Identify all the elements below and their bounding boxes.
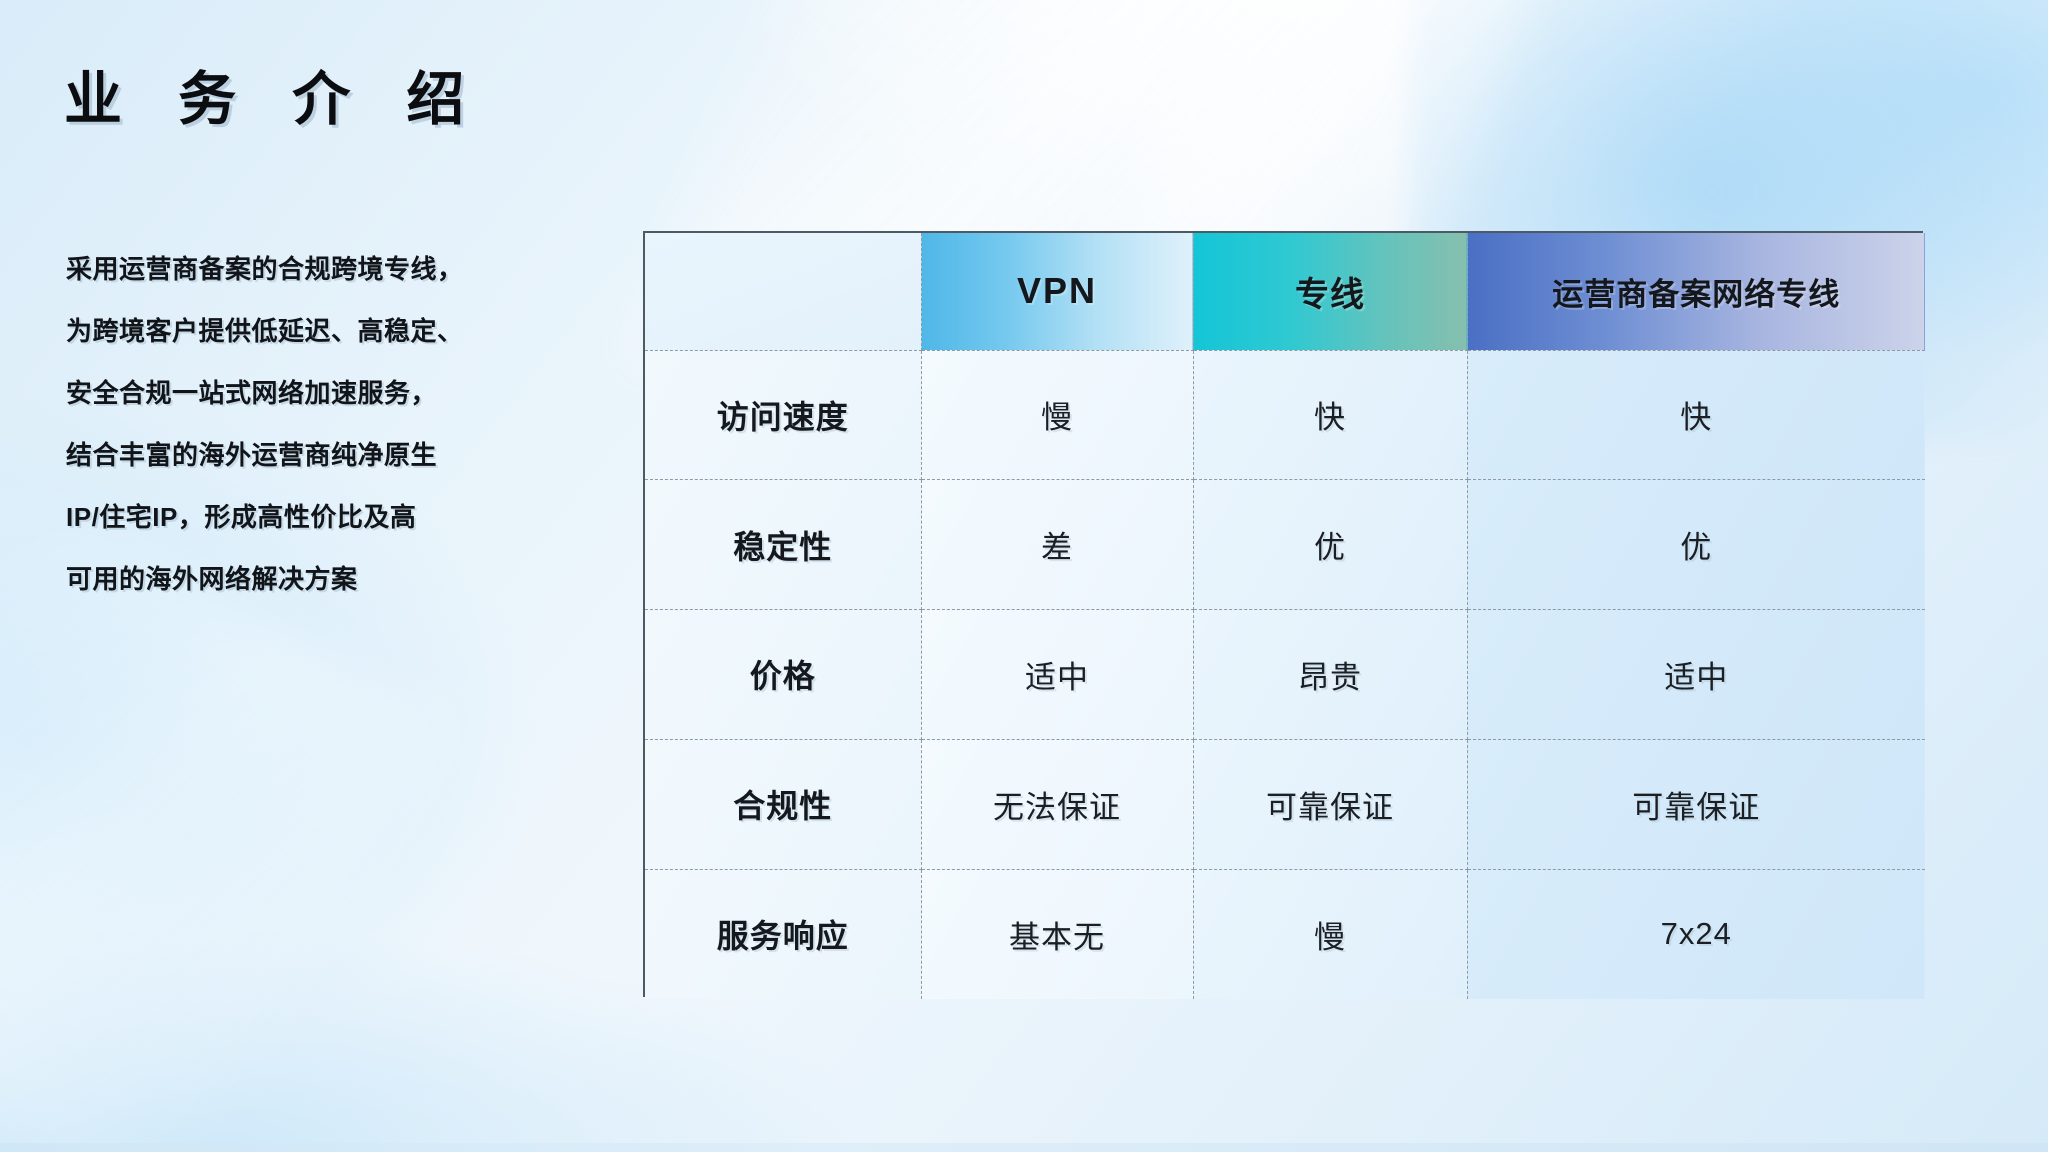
cell-value: 慢 [921,350,1193,480]
cell-text: 差 [1041,530,1073,565]
cell-text: 适中 [1025,660,1089,695]
cell-value: 基本无 [921,869,1193,999]
paragraph-line: 安全合规一站式网络加速服务， [66,362,626,424]
table-row: 访问速度 慢 快 快 [645,350,1925,480]
table-header-corner [645,233,921,350]
row-label-service-response: 服务响应 [645,869,921,999]
cell-value: 差 [921,480,1193,610]
cell-text: 可靠保证 [1266,790,1394,825]
cell-text: 7x24 [1661,916,1732,951]
cell-value: 昂贵 [1193,610,1467,740]
table-row: 稳定性 差 优 优 [645,480,1925,610]
comparison-table: VPN 专线 运营商备案网络专线 访问速度 慢 快 快 [643,231,1923,997]
cell-text: 适中 [1664,660,1728,695]
row-label-stability: 稳定性 [645,480,921,610]
paragraph-line: 采用运营商备案的合规跨境专线， [66,238,626,300]
table-header-dedicated-line: 专线 [1193,233,1467,350]
cell-text: 优 [1680,530,1712,565]
paragraph-line: IP/住宅IP，形成高性价比及高 [66,486,626,548]
cell-value: 可靠保证 [1467,739,1925,869]
table-row: 服务响应 基本无 慢 7x24 [645,869,1925,999]
cell-text: 无法保证 [993,790,1121,825]
cell-value: 7x24 [1467,869,1925,999]
cell-value: 适中 [1467,610,1925,740]
table-header-carrier-line-label: 运营商备案网络专线 [1552,277,1840,312]
cell-text: 优 [1314,530,1346,565]
table-header-dedicated-line-label: 专线 [1295,276,1365,314]
table-row: 合规性 无法保证 可靠保证 可靠保证 [645,739,1925,869]
cell-value: 优 [1193,480,1467,610]
cell-text: 昂贵 [1298,660,1362,695]
paragraph-line: 结合丰富的海外运营商纯净原生 [66,424,626,486]
cell-text: 慢 [1314,920,1346,955]
paragraph-line: 为跨境客户提供低延迟、高稳定、 [66,300,626,362]
cell-text: 快 [1314,400,1346,435]
slide-bottom-edge [0,1143,2048,1152]
cell-value: 优 [1467,480,1925,610]
row-label-compliance: 合规性 [645,739,921,869]
table-header-row: VPN 专线 运营商备案网络专线 [645,233,1925,350]
intro-paragraph: 采用运营商备案的合规跨境专线， 为跨境客户提供低延迟、高稳定、 安全合规一站式网… [66,238,626,610]
cell-value: 无法保证 [921,739,1193,869]
cell-value: 适中 [921,610,1193,740]
cell-text: 基本无 [1009,920,1105,955]
slide-canvas: 业 务 介 绍 采用运营商备案的合规跨境专线， 为跨境客户提供低延迟、高稳定、 … [0,0,2048,1152]
row-label-price: 价格 [645,610,921,740]
row-label-access-speed: 访问速度 [645,350,921,480]
table-header-vpn: VPN [921,233,1193,350]
page-title: 业 务 介 绍 [64,52,484,136]
table-header-carrier-line: 运营商备案网络专线 [1467,233,1925,350]
cell-value: 慢 [1193,869,1467,999]
cell-value: 快 [1193,350,1467,480]
cell-text: 慢 [1041,400,1073,435]
cell-text: 可靠保证 [1632,790,1760,825]
cell-value: 快 [1467,350,1925,480]
paragraph-line: 可用的海外网络解决方案 [66,548,626,610]
table-header-vpn-label: VPN [1017,270,1097,311]
table-row: 价格 适中 昂贵 适中 [645,610,1925,740]
cell-text: 快 [1680,400,1712,435]
cell-value: 可靠保证 [1193,739,1467,869]
